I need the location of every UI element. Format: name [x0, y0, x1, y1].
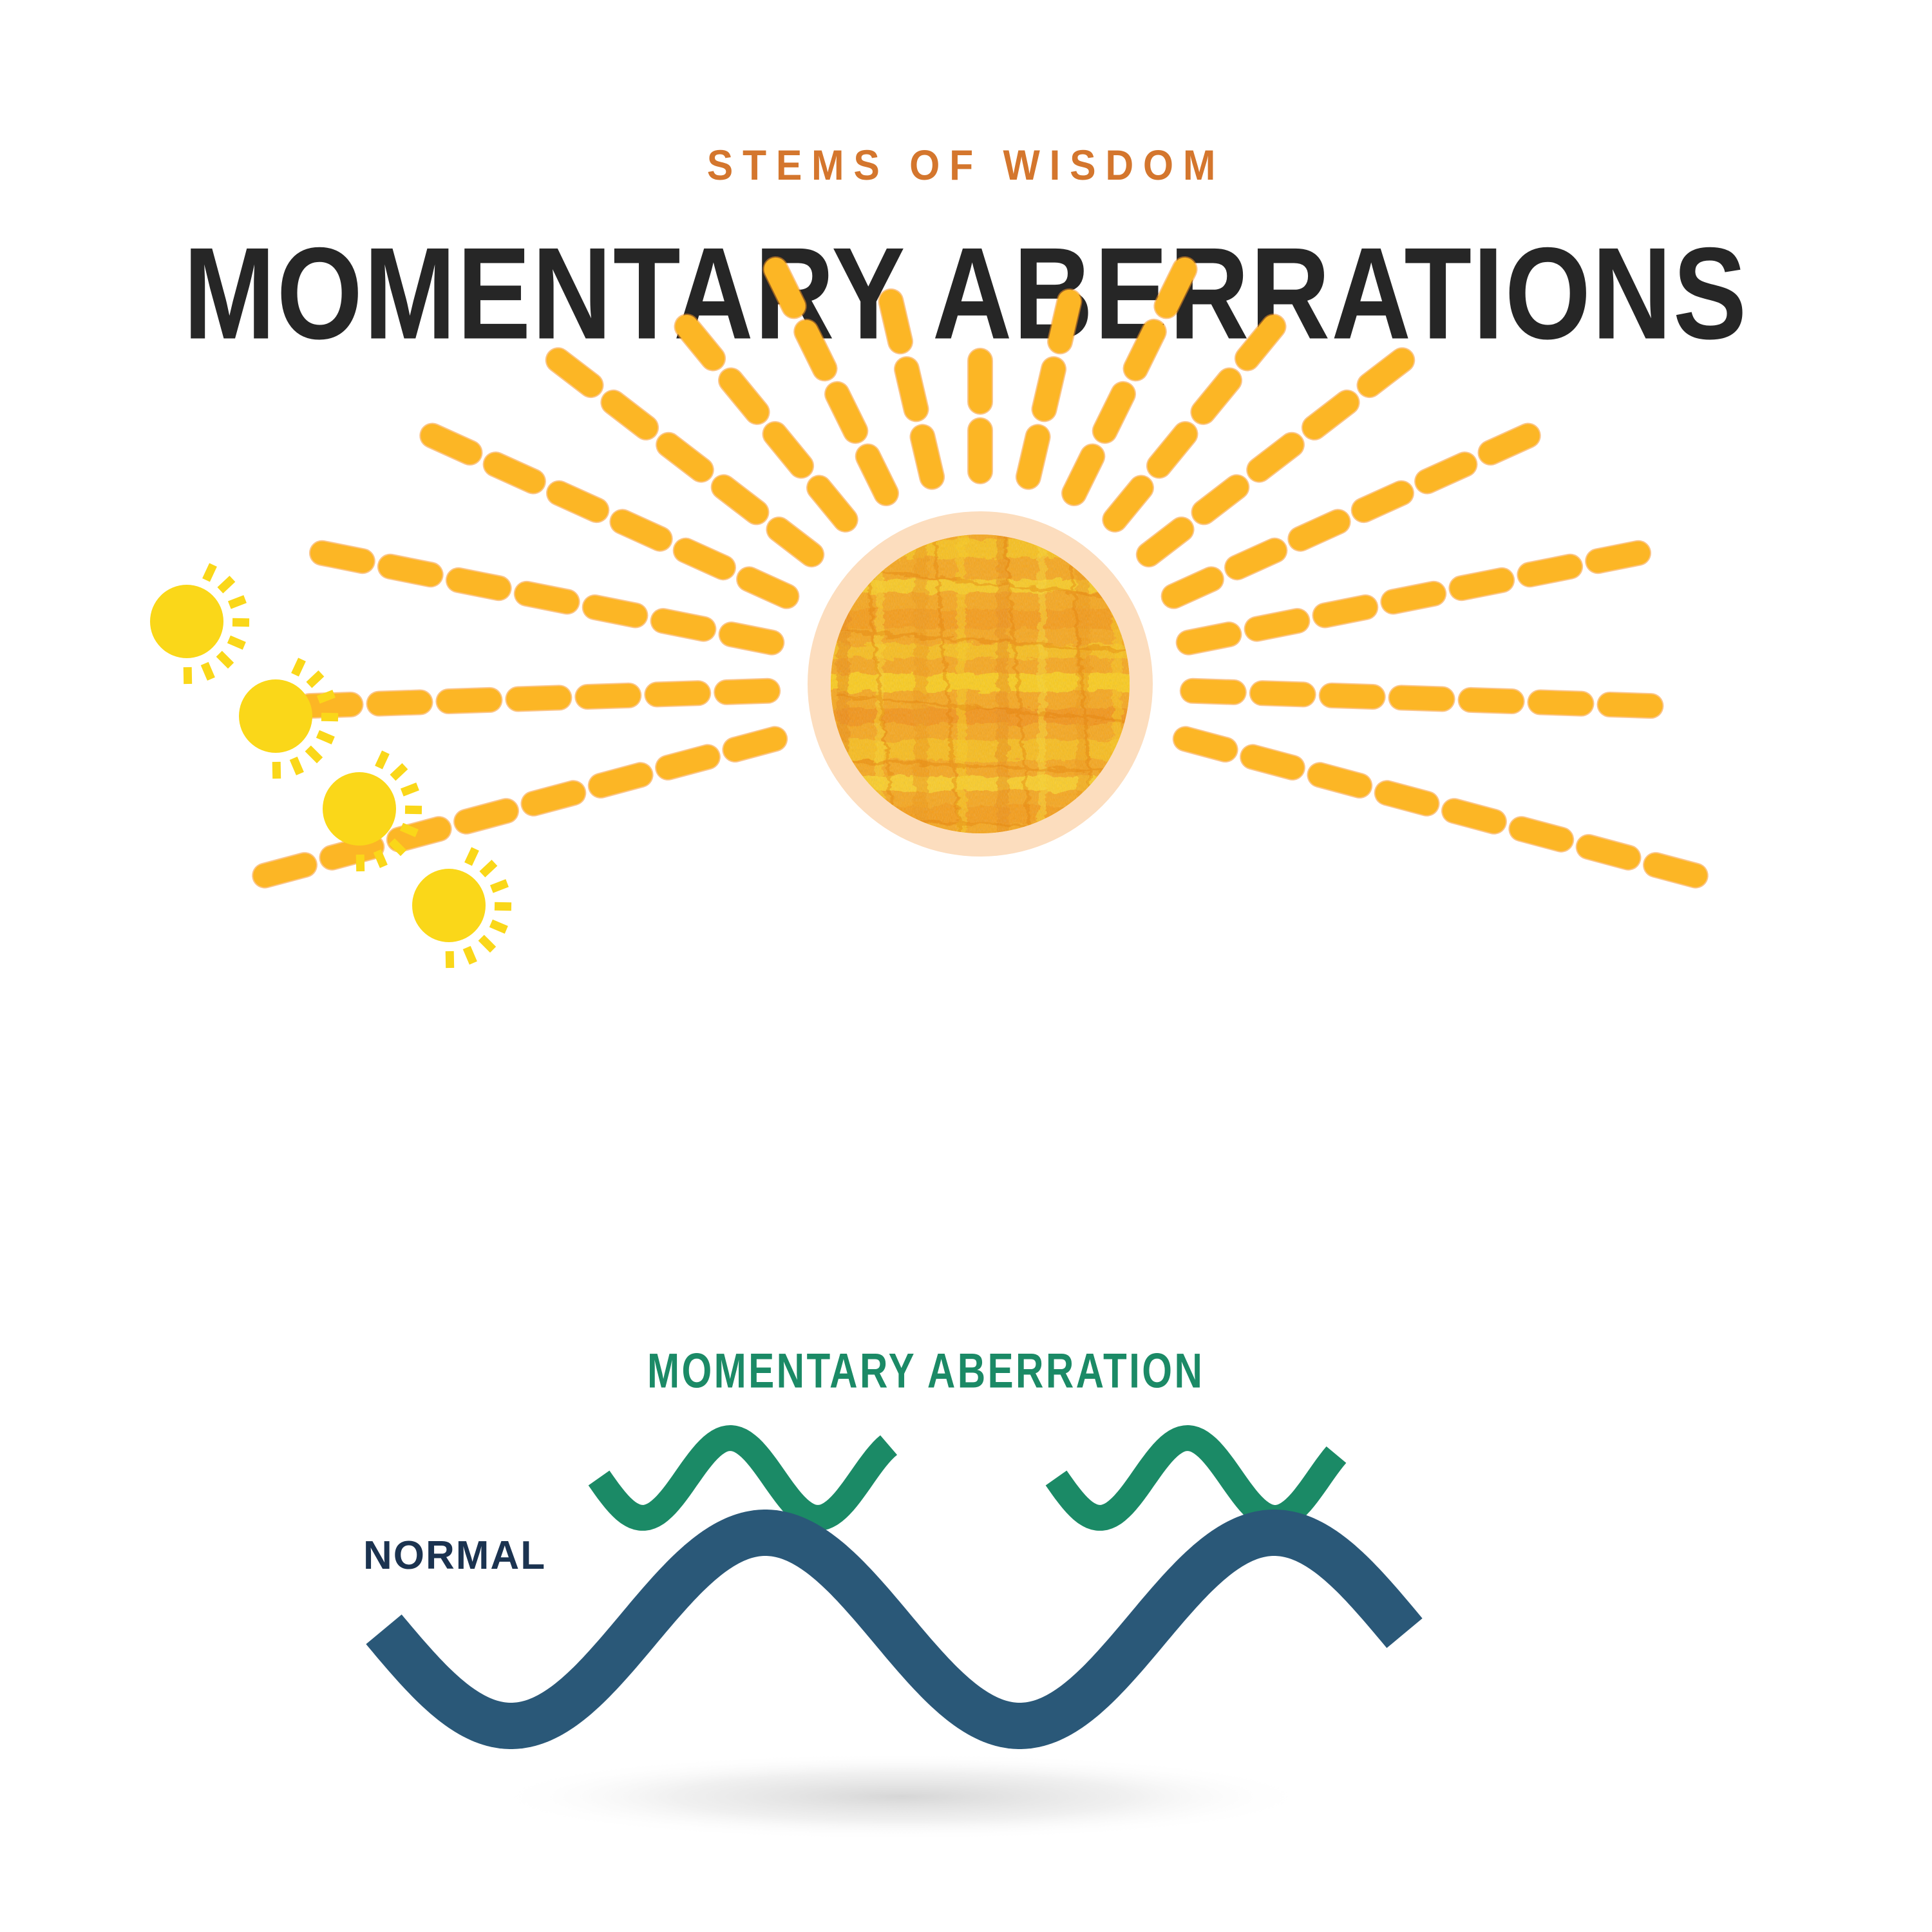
sun-ray-dash [310, 705, 351, 706]
mini-sun-ray [309, 674, 321, 685]
sun-ray-dash [1074, 457, 1092, 493]
mini-sun-ray [220, 579, 232, 591]
sun-ray-dash [891, 301, 901, 341]
mini-sun-ray [450, 951, 450, 968]
sun-ray-dash [1300, 522, 1338, 539]
sun-ray-dash [837, 394, 855, 431]
sun-ray-dash [322, 553, 363, 562]
mini-sun-disc [239, 679, 312, 753]
sun-ray-dash [923, 437, 933, 477]
sun-ray-dash [775, 269, 793, 306]
sun-ray-dash [1136, 332, 1154, 368]
sun-ray-dash [559, 493, 596, 510]
mini-sun-icon [239, 659, 338, 779]
sun-ray-dash [1364, 493, 1401, 510]
mini-sun-ray [379, 752, 386, 768]
sun-ray-dash [907, 369, 916, 409]
mini-sun-ray [229, 639, 244, 646]
mini-sun-ray [491, 883, 507, 889]
sun-ray-dash [1105, 394, 1123, 431]
sun-ray-dash [466, 811, 506, 822]
sun-ray-dash [1461, 580, 1502, 588]
mini-sun-ray [402, 786, 417, 792]
sun-ray-dash [1060, 301, 1070, 341]
mini-sun-ray [405, 810, 422, 810]
sun-ray-dash [613, 402, 646, 428]
sun-ray-dash [459, 580, 499, 588]
mini-sun-ray [276, 762, 277, 779]
mini-sun-ray [206, 565, 213, 580]
sun-ray-dash [1237, 551, 1274, 567]
mini-sun-ray [360, 855, 361, 871]
sun-ray-dash [595, 607, 636, 616]
sun-ray-dash [687, 327, 714, 359]
mini-sun-ray [294, 758, 300, 773]
mini-sun-ray [205, 663, 211, 679]
sun-ray-dash [668, 445, 701, 470]
sun-ray-dash [518, 697, 559, 699]
mini-sun-ray [495, 906, 511, 907]
poster-canvas: STEMS OF WISDOM MOMENTARY ABERRATIONS MO… [0, 0, 1932, 1932]
sun-ray-dash [1247, 327, 1274, 359]
sun-ray-dash [534, 793, 574, 804]
sun-ray-dash [1521, 829, 1561, 840]
mini-sun-ray [481, 938, 493, 949]
descending-mini-suns [150, 565, 511, 968]
mini-sun-ray [482, 863, 495, 875]
sun-ray-dash [1189, 634, 1229, 643]
sun-ray-dash [558, 360, 591, 385]
mini-sun-ray [295, 659, 302, 675]
sun-ray-dash [1491, 436, 1528, 453]
mini-sun-ray [232, 622, 249, 623]
mini-sun-icon [412, 849, 511, 968]
sun-ray-dash [448, 700, 489, 701]
mini-sun-ray [393, 766, 405, 778]
sun-ray-dash [1028, 437, 1038, 477]
sun-ray-dash [1529, 567, 1570, 575]
sun-ray-dash [1589, 847, 1629, 858]
sun-ray-dash [1610, 705, 1651, 706]
mini-sun-ray [318, 694, 334, 699]
sun-ray-dash [332, 847, 372, 858]
sun-ray-dash [1427, 464, 1464, 481]
sun-ray-dash [1253, 757, 1293, 768]
sun-ray-dash [1186, 739, 1226, 750]
wave-group [384, 1438, 1405, 1726]
sun-ray-dash [724, 487, 757, 512]
normal-wave-label: NORMAL [363, 1533, 546, 1578]
mini-sun-ray [468, 849, 475, 864]
mini-sun-disc [412, 869, 486, 942]
sun-ray-dash [601, 775, 641, 786]
sun-ray-dash [1540, 703, 1582, 704]
sun-ray-dash [379, 703, 421, 704]
sun-ray-dash [663, 621, 704, 629]
mini-sun-disc [323, 772, 396, 846]
sun-ray-dash [1314, 402, 1347, 428]
sun-ray-dash [587, 696, 629, 697]
textured-sun [808, 511, 1153, 857]
aberration-wave-right [1056, 1438, 1336, 1518]
sun-ray-dash [1149, 529, 1182, 554]
sun-ray-dash [1174, 579, 1211, 596]
sun-ray-dash [1259, 445, 1292, 470]
mini-sun-ray [219, 654, 231, 665]
sun-ray-dash [1045, 369, 1054, 409]
sun-ray-dash [1325, 607, 1366, 616]
sun-ray-dash [1393, 594, 1434, 602]
mini-sun-icon [150, 565, 249, 684]
sun-ray-dash [1257, 621, 1298, 629]
ground-shadow [489, 1753, 1314, 1841]
sun-ray-dash [1204, 487, 1237, 512]
sun-ray-dash [527, 594, 567, 602]
sun-ray-dash [432, 436, 469, 453]
sun-ray-dash [732, 634, 772, 643]
sun-ray-dash [1598, 553, 1638, 562]
sun-ray-dash [731, 381, 757, 412]
mini-sun-ray [229, 599, 245, 605]
aberration-wave-label: MOMENTARY ABERRATION [647, 1343, 1204, 1399]
mini-sun-ray [491, 923, 506, 930]
sun-ray-dash [1193, 691, 1234, 692]
sun-ray-dash [1471, 700, 1512, 701]
sun-ray-dash [1166, 269, 1184, 306]
illustration-svg [0, 0, 1932, 1932]
sun-ray-dash [1320, 775, 1359, 786]
sun-ray-dash [1203, 381, 1229, 412]
sun-ray-dash [622, 522, 659, 539]
sun-ray-dash [657, 693, 698, 694]
sun-ray-dash [1401, 697, 1443, 699]
mini-sun-disc [150, 585, 223, 658]
sun-ray-dash [1159, 434, 1186, 466]
sun-ray-dash [1332, 696, 1373, 697]
sun-ray-dash [668, 757, 708, 768]
mini-sun-ray [321, 717, 338, 717]
sun-ray-dash [1115, 488, 1141, 520]
sun-ray-dash [1454, 811, 1494, 822]
mini-sun-ray [187, 667, 188, 684]
sun-ray-dash [1387, 793, 1427, 804]
sun-ray-dash [1656, 865, 1696, 876]
sun-ray-dash [1370, 360, 1403, 385]
sun-ray-dash [1262, 693, 1303, 694]
aberration-wave-left [599, 1438, 889, 1518]
sun-ray-dash [749, 579, 786, 596]
sun-ray-dash [806, 332, 824, 368]
sun-ray-dash [390, 567, 431, 575]
sun-ray-dash [735, 739, 775, 750]
mini-sun-ray [467, 947, 473, 963]
mini-sun-ray [308, 748, 319, 760]
sun-ray-dash [819, 488, 846, 520]
sun-ray-dash [686, 551, 723, 567]
sun-ray-dash [868, 457, 886, 493]
sun-ray-dash [496, 464, 533, 481]
sun-ray-dash [726, 691, 768, 692]
sun-ray-dash [779, 529, 811, 554]
sun-ray-dash [775, 434, 802, 466]
mini-sun-ray [317, 734, 333, 741]
sun-ray-dash [265, 865, 305, 876]
